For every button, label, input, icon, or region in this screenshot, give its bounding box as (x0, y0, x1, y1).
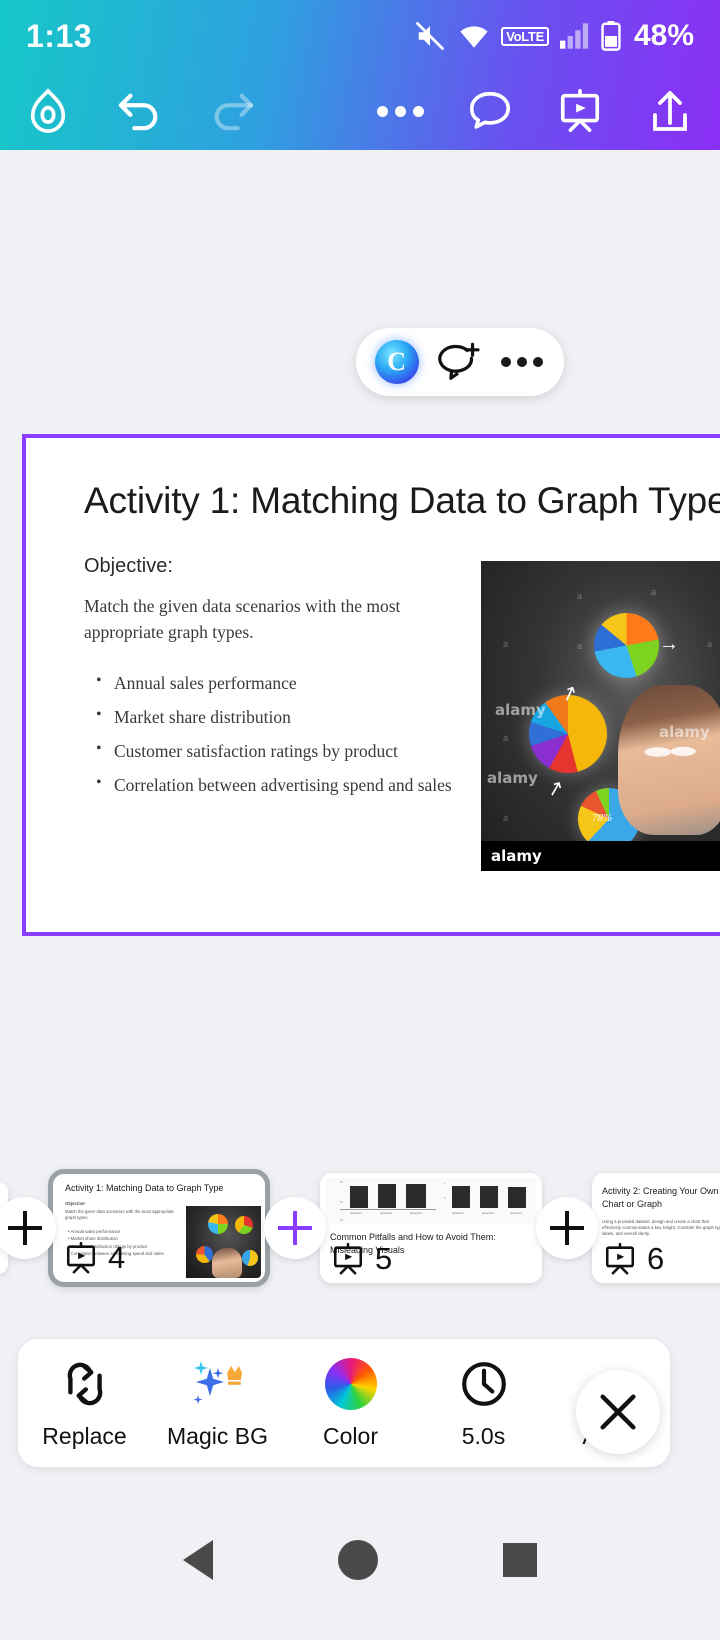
undo-button[interactable] (114, 85, 166, 137)
share-icon (648, 87, 692, 135)
person-photo (618, 685, 720, 835)
list-item: Customer satisfaction ratings by product (96, 734, 496, 768)
thumbnail-number-badge: 4 (63, 1240, 125, 1276)
thumbnail-slide-5[interactable]: M % Quarter1 Quarter2 Quarter3 7 1 Quart… (320, 1173, 542, 1283)
home-icon (27, 88, 69, 134)
pie-percent-label: 78% (592, 812, 612, 824)
magic-studio-icon[interactable]: C (375, 340, 419, 384)
color-button[interactable]: Color (284, 1339, 417, 1467)
thumbnail-objective: Objective: (65, 1201, 86, 1207)
thumbnail-title: Activity 2: Creating Your Own Chart or G… (602, 1185, 720, 1211)
element-action-bar: Replace Magic BG Color 5.0s (18, 1339, 670, 1467)
share-button[interactable] (644, 85, 696, 137)
element-more-button[interactable] (499, 339, 545, 385)
thumbnail-image (186, 1206, 261, 1278)
top-bar: 1:13 VoLTE 48% (0, 0, 720, 150)
present-icon (557, 88, 603, 134)
add-comment-button[interactable] (436, 339, 482, 385)
slide-bullet-list: Annual sales performance Market share di… (96, 666, 496, 802)
duration-button[interactable]: 5.0s (417, 1339, 550, 1467)
list-item: Annual sales performance (68, 1228, 180, 1235)
replace-label: Replace (42, 1423, 126, 1450)
thumbnail-number: 6 (647, 1241, 664, 1277)
battery-icon (601, 21, 621, 51)
arrow-graphic: ↗ (544, 774, 567, 802)
list-item: Annual sales performance (96, 666, 496, 700)
slide-content: Activity 1: Matching Data to Graph Type … (26, 438, 720, 932)
thumbnail-title: Activity 1: Matching Data to Graph Type (65, 1183, 223, 1193)
canvas-area: C Activity 1: Matching Data to Graph Typ… (0, 150, 720, 1150)
slide-objective-label: Objective: (84, 555, 173, 578)
more-options-button[interactable] (374, 85, 426, 137)
redo-button[interactable] (206, 85, 258, 137)
battery-percent: 48% (634, 19, 694, 53)
thumbnail-slide-4[interactable]: Activity 1: Matching Data to Graph Type … (48, 1169, 270, 1287)
present-icon (63, 1241, 99, 1275)
thumbnail-description: Match the given data scenarios with the … (65, 1209, 175, 1221)
color-wheel-icon (325, 1357, 377, 1411)
slide-image[interactable]: a a a a a a a a 78% ↗ → ↗ alamy alamy (481, 561, 720, 871)
android-nav-bar (0, 1480, 720, 1640)
slide-canvas[interactable]: Activity 1: Matching Data to Graph Type … (22, 434, 720, 936)
close-action-bar-button[interactable] (576, 1370, 660, 1454)
thumbnail-number-badge: 6 (602, 1241, 664, 1277)
floating-element-toolbar: C (356, 328, 564, 396)
close-icon (595, 1389, 641, 1435)
present-button[interactable] (554, 85, 606, 137)
thumbnail-slide-6[interactable]: Activity 2: Creating Your Own Chart or G… (592, 1173, 720, 1283)
thumbnail-number-badge: 5 (330, 1241, 392, 1277)
status-clock: 1:13 (26, 18, 92, 55)
slide-description: Match the given data scenarios with the … (84, 593, 444, 646)
watermark-bar: alamy (481, 841, 720, 871)
list-item: Correlation between advertising spend an… (96, 768, 496, 802)
pie-chart-graphic (594, 613, 659, 678)
comments-button[interactable] (464, 85, 516, 137)
watermark-text: alamy (495, 701, 546, 719)
thumbnail-number: 5 (375, 1241, 392, 1277)
home-button[interactable] (22, 85, 74, 137)
wifi-icon (458, 23, 490, 49)
mute-icon (413, 21, 447, 51)
slide-thumbnail-strip[interactable]: Activity 1: Matching Data to Graph Type … (0, 1158, 720, 1298)
status-bar: 1:13 VoLTE 48% (0, 0, 720, 72)
volte-icon: VoLTE (501, 27, 549, 46)
thumbnail-description: Using a provided dataset, design and cre… (602, 1219, 720, 1238)
slide-title: Activity 1: Matching Data to Graph Type (84, 480, 720, 522)
watermark-text: alamy (659, 723, 710, 741)
duration-label: 5.0s (462, 1423, 505, 1450)
thumbnail-number: 4 (108, 1240, 125, 1276)
magic-bg-button[interactable]: Magic BG (151, 1339, 284, 1467)
signal-icon (560, 23, 590, 49)
replace-icon (60, 1357, 110, 1411)
add-slide-button[interactable] (536, 1197, 598, 1259)
watermark-text: alamy (491, 847, 542, 865)
present-icon (330, 1242, 366, 1276)
magic-bg-label: Magic BG (167, 1423, 268, 1450)
watermark-text: alamy (487, 769, 538, 787)
nav-recents-button[interactable] (503, 1543, 537, 1577)
magic-sparkle-crown-icon (188, 1357, 248, 1411)
status-icons: VoLTE 48% (413, 19, 694, 53)
clock-icon (459, 1357, 509, 1411)
color-label: Color (323, 1423, 378, 1450)
arrow-graphic: → (659, 633, 679, 656)
add-comment-icon (437, 341, 481, 383)
editor-toolbar (0, 72, 720, 150)
add-slide-button[interactable] (264, 1197, 326, 1259)
nav-back-button[interactable] (183, 1540, 213, 1580)
redo-icon (209, 90, 255, 132)
more-dots-icon (377, 106, 424, 117)
comment-icon (467, 88, 513, 134)
list-item: Market share distribution (96, 700, 496, 734)
nav-home-button[interactable] (338, 1540, 378, 1580)
undo-icon (117, 90, 163, 132)
more-dots-icon (501, 357, 543, 367)
present-icon (602, 1242, 638, 1276)
replace-button[interactable]: Replace (18, 1339, 151, 1467)
